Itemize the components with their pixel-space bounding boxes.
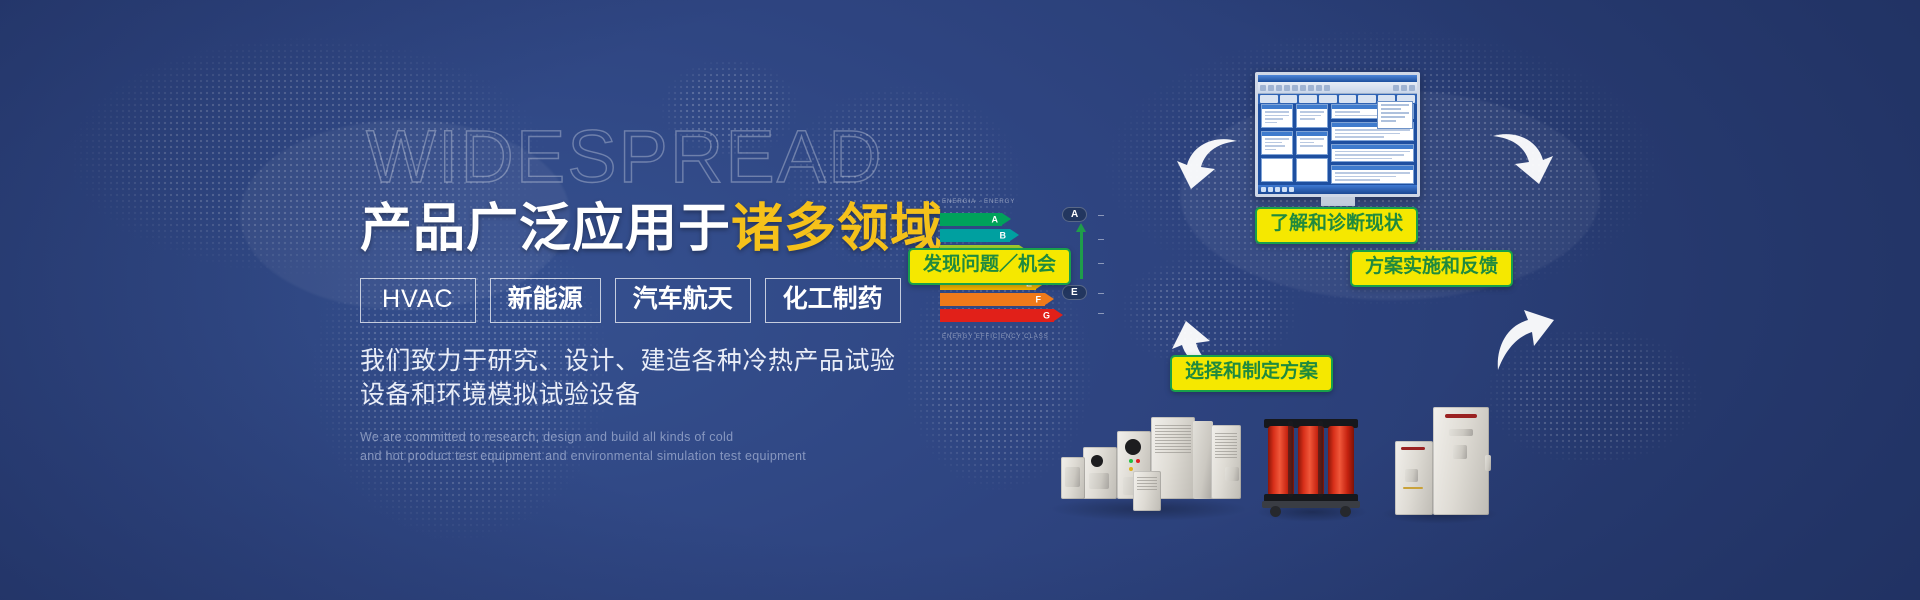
description-en-line-1: We are committed to research, design and…: [360, 428, 920, 447]
energy-bar-g-grade: G: [1043, 311, 1050, 320]
page-title: 产品广泛应用于诸多领域: [360, 200, 920, 260]
energy-bar-a-grade: A: [992, 215, 999, 224]
arrow-top-right-icon: [1485, 130, 1555, 190]
energy-chip-top: A: [1062, 207, 1087, 222]
arrow-top-left-icon: [1175, 135, 1245, 195]
callout-discover-problem[interactable]: 发现问题／机会: [908, 248, 1071, 285]
tag-automotive-aerospace[interactable]: 汽车航天: [615, 278, 751, 324]
product-photo-row: [1055, 405, 1525, 520]
product-drives-and-cabinets: [1055, 405, 1245, 515]
description-cn-line-2: 设备和环境模拟试验设备: [360, 379, 920, 412]
energy-label-title-bottom: ENERGY EFFICIENCY CLASS: [942, 334, 1049, 340]
callout-implement-feedback[interactable]: 方案实施和反馈: [1350, 250, 1513, 287]
hero-banner: WIDESPREAD 产品广泛应用于诸多领域 HVAC 新能源 汽车航天 化工制…: [0, 0, 1920, 600]
energy-bar-g: G: [940, 309, 1054, 322]
headline-white: 产品广泛应用于: [360, 200, 731, 258]
product-dry-type-transformer: [1260, 415, 1365, 517]
energy-bar-f-grade: F: [1036, 295, 1042, 304]
ghost-heading: WIDESPREAD: [366, 120, 920, 194]
tag-chemical-pharma[interactable]: 化工制药: [765, 278, 901, 324]
arrow-bottom-right-icon: [1492, 308, 1558, 374]
software-dashboard-screenshot: [1255, 72, 1420, 197]
product-power-cabinets: [1385, 407, 1495, 519]
energy-bar-b-grade: B: [1000, 231, 1007, 240]
energy-bar-b: B: [940, 229, 1010, 242]
callout-understand-diagnose[interactable]: 了解和诊断现状: [1255, 207, 1418, 244]
energy-improvement-arrow: [1080, 231, 1083, 279]
hero-text-block: WIDESPREAD 产品广泛应用于诸多领域 HVAC 新能源 汽车航天 化工制…: [360, 120, 920, 467]
tag-hvac[interactable]: HVAC: [360, 278, 476, 324]
description-en-line-2: and hot product test equipment and envir…: [360, 447, 920, 466]
energy-bar-f: F: [940, 293, 1045, 306]
description-chinese: 我们致力于研究、设计、建造各种冷热产品试验 设备和环境模拟试验设备: [360, 345, 920, 412]
description-english: We are committed to research, design and…: [360, 428, 920, 467]
tag-new-energy[interactable]: 新能源: [490, 278, 601, 324]
category-tag-list: HVAC 新能源 汽车航天 化工制药: [360, 278, 920, 324]
process-cycle-diagram: ENERGIA · ENERGY A B C D: [900, 0, 1920, 600]
energy-chip-bottom: E: [1062, 285, 1087, 300]
callout-select-plan[interactable]: 选择和制定方案: [1170, 355, 1333, 392]
description-cn-line-1: 我们致力于研究、设计、建造各种冷热产品试验: [360, 345, 920, 378]
energy-bar-a: A: [940, 213, 1002, 226]
energy-label-title-top: ENERGIA · ENERGY: [942, 199, 1015, 205]
